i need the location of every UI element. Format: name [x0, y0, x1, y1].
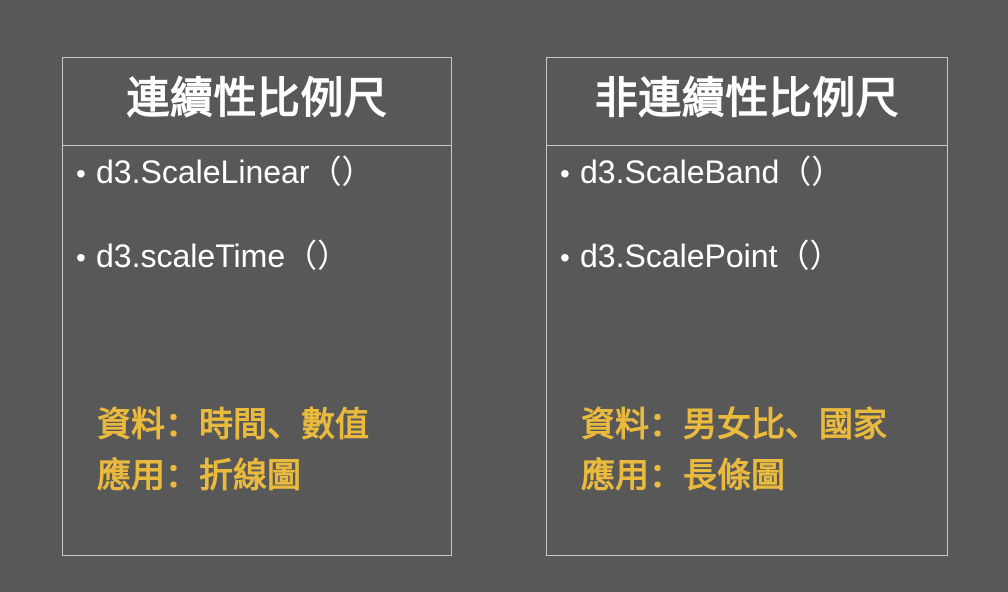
- note-block-continuous-scale: 資料：時間、數值 應用：折線圖: [97, 400, 369, 503]
- note-line-data: 資料：男女比、國家: [581, 400, 887, 452]
- list-item: • d3.ScaleBand（）: [560, 156, 943, 188]
- bullet-dot-icon: •: [76, 244, 96, 272]
- slide-canvas: 連續性比例尺 • d3.ScaleLinear（） • d3.scaleTime…: [0, 0, 1008, 592]
- panel-discrete-scale: 非連續性比例尺 • d3.ScaleBand（） • d3.ScalePoint…: [546, 57, 948, 556]
- list-item: • d3.ScalePoint（）: [560, 240, 943, 272]
- note-line-application: 應用：長條圖: [581, 451, 887, 503]
- panel-body-continuous-scale: • d3.ScaleLinear（） • d3.scaleTime（） 資料：時…: [63, 146, 451, 555]
- note-line-data: 資料：時間、數值: [97, 400, 369, 452]
- bullet-dot-icon: •: [560, 160, 580, 188]
- bullet-label: d3.ScaleBand（）: [580, 156, 843, 188]
- list-item: • d3.scaleTime（）: [76, 240, 447, 272]
- panel-title-continuous-scale: 連續性比例尺: [63, 58, 451, 146]
- note-block-discrete-scale: 資料：男女比、國家 應用：長條圖: [581, 400, 887, 503]
- list-item: • d3.ScaleLinear（）: [76, 156, 447, 188]
- bullet-label: d3.ScalePoint（）: [580, 240, 841, 272]
- bullet-label: d3.scaleTime（）: [96, 240, 349, 272]
- panel-continuous-scale: 連續性比例尺 • d3.ScaleLinear（） • d3.scaleTime…: [62, 57, 452, 556]
- panel-body-discrete-scale: • d3.ScaleBand（） • d3.ScalePoint（） 資料：男女…: [547, 146, 947, 555]
- panel-title-discrete-scale: 非連續性比例尺: [547, 58, 947, 146]
- bullet-list-continuous-scale: • d3.ScaleLinear（） • d3.scaleTime（）: [76, 156, 447, 324]
- bullet-list-discrete-scale: • d3.ScaleBand（） • d3.ScalePoint（）: [560, 156, 943, 324]
- bullet-label: d3.ScaleLinear（）: [96, 156, 374, 188]
- bullet-dot-icon: •: [560, 244, 580, 272]
- bullet-dot-icon: •: [76, 160, 96, 188]
- note-line-application: 應用：折線圖: [97, 451, 369, 503]
